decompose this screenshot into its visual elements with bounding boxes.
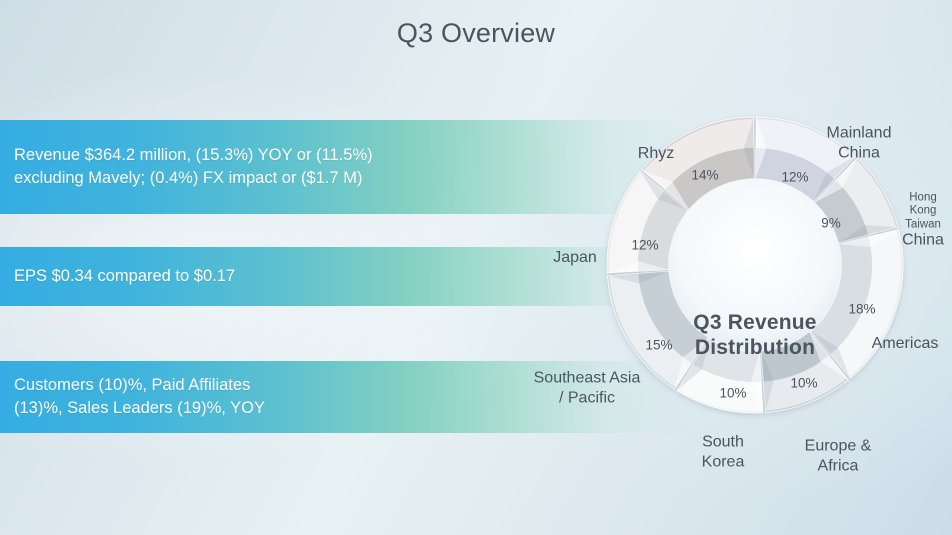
bullet-text-revenue: Revenue $364.2 million, (15.3%) YOY or (… (14, 144, 373, 191)
bullet-text-customers: Customers (10)%, Paid Affiliates (13)%, … (14, 374, 265, 421)
revenue-distribution-donut-chart: Q3 Revenue Distribution 12% 9% 18% 10% 1… (588, 98, 952, 498)
donut-svg (588, 98, 952, 498)
slide-canvas: Q3 Overview Revenue $364.2 million, (15.… (0, 0, 952, 535)
page-title: Q3 Overview (0, 18, 952, 49)
bullet-text-eps: EPS $0.34 compared to $0.17 (14, 265, 235, 288)
